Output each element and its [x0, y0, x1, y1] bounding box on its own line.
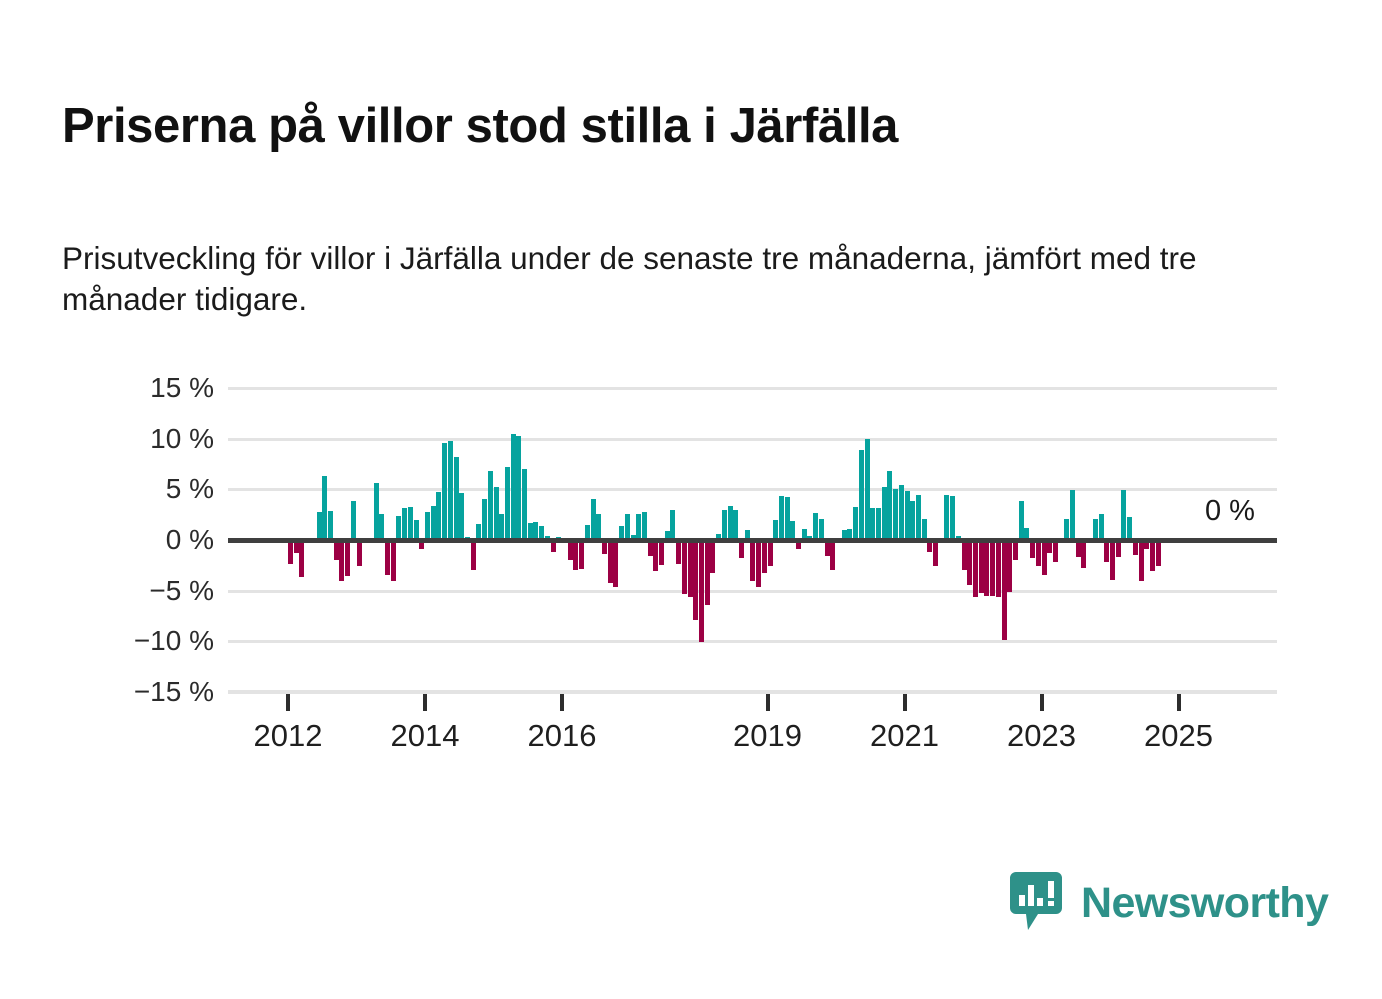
bar: [779, 496, 784, 540]
bar: [317, 512, 322, 540]
x-axis-tick-label: 2014: [391, 718, 460, 754]
bar: [773, 520, 778, 540]
bar: [511, 434, 516, 540]
bar: [910, 501, 915, 540]
bar: [876, 508, 881, 540]
x-axis-tick-label: 2012: [254, 718, 323, 754]
bar: [396, 516, 401, 540]
bar: [693, 540, 698, 620]
bar: [608, 540, 613, 583]
bar: [328, 511, 333, 540]
bar: [785, 497, 790, 540]
bar: [905, 491, 910, 540]
bar: [471, 540, 476, 570]
bar: [813, 513, 818, 540]
bar: [299, 540, 304, 577]
bar: [1070, 490, 1075, 540]
bar: [984, 540, 989, 596]
bar: [374, 483, 379, 540]
bar: [573, 540, 578, 570]
x-axis-tick-label: 2025: [1144, 718, 1213, 754]
bar: [1121, 490, 1126, 540]
bar: [579, 540, 584, 569]
bar: [351, 501, 356, 540]
x-axis-tick: [560, 694, 564, 711]
bar: [459, 493, 464, 540]
y-axis-tick-label: −5 %: [74, 575, 214, 607]
bar: [1156, 540, 1161, 566]
bar: [1127, 517, 1132, 540]
bar: [448, 441, 453, 540]
bar: [973, 540, 978, 597]
bar: [1064, 519, 1069, 540]
bar: [768, 540, 773, 566]
x-axis-tick: [423, 694, 427, 711]
bar: [482, 499, 487, 540]
bar: [996, 540, 1001, 597]
bar: [1110, 540, 1115, 580]
price-development-bar-chart: 15 %10 %5 %0 %−5 %−10 %−15 % 20122014201…: [0, 0, 1382, 999]
bar: [870, 508, 875, 540]
bar: [402, 508, 407, 540]
bar: [499, 514, 504, 540]
bar-chart-speech-bubble-icon: [1010, 872, 1068, 934]
bar: [1139, 540, 1144, 581]
x-axis-tick: [766, 694, 770, 711]
bar: [339, 540, 344, 581]
bar: [710, 540, 715, 573]
x-axis-tick-label: 2023: [1007, 718, 1076, 754]
bar: [625, 514, 630, 540]
bar: [1053, 540, 1058, 562]
bar: [893, 489, 898, 540]
bar: [682, 540, 687, 594]
bar: [750, 540, 755, 581]
bar: [882, 487, 887, 540]
bar: [431, 506, 436, 540]
bar: [830, 540, 835, 570]
zero-line: [228, 538, 1277, 543]
bar: [385, 540, 390, 575]
x-axis-tick: [1177, 694, 1181, 711]
zero-line-annotation: 0 %: [1205, 495, 1255, 528]
newsworthy-wordmark: Newsworthy: [1081, 882, 1328, 925]
bar: [494, 487, 499, 540]
bar: [933, 540, 938, 566]
bar: [659, 540, 664, 565]
bar: [591, 499, 596, 540]
bar: [1007, 540, 1012, 592]
bar: [944, 495, 949, 540]
bar: [1002, 540, 1007, 640]
x-axis-tick: [286, 694, 290, 711]
bar: [345, 540, 350, 576]
x-axis-tick-label: 2021: [870, 718, 939, 754]
bar: [488, 471, 493, 540]
y-axis-tick-label: 15 %: [74, 372, 214, 404]
bar: [522, 469, 527, 540]
bar: [899, 485, 904, 540]
bar: [979, 540, 984, 593]
bar: [596, 514, 601, 540]
x-axis-tick: [1040, 694, 1044, 711]
bar: [516, 436, 521, 540]
bar: [670, 510, 675, 540]
bar: [1150, 540, 1155, 571]
bar: [733, 510, 738, 540]
bar: [322, 476, 327, 540]
bar: [642, 512, 647, 540]
bar: [722, 510, 727, 540]
bar: [454, 457, 459, 540]
plot-area: [228, 388, 1277, 692]
bar: [950, 496, 955, 540]
bar: [865, 439, 870, 540]
bar: [962, 540, 967, 570]
bar: [568, 540, 573, 560]
y-axis-tick-label: 0 %: [74, 524, 214, 556]
bar: [967, 540, 972, 585]
x-axis-tick-label: 2019: [733, 718, 802, 754]
bar: [408, 507, 413, 540]
bar: [762, 540, 767, 573]
bar: [1099, 514, 1104, 540]
y-axis-tick-label: 10 %: [74, 423, 214, 455]
bar: [436, 492, 441, 540]
bar: [425, 512, 430, 540]
bar: [1081, 540, 1086, 568]
y-axis-tick-label: 5 %: [74, 473, 214, 505]
y-axis-tick-label: −10 %: [74, 625, 214, 657]
bar: [916, 495, 921, 540]
bar: [636, 514, 641, 540]
infographic-page: Priserna på villor stod stilla i Järfäll…: [0, 0, 1382, 999]
bar: [1042, 540, 1047, 575]
y-axis-tick-label: −15 %: [74, 676, 214, 708]
bar: [887, 471, 892, 540]
bar: [859, 450, 864, 540]
bar: [613, 540, 618, 587]
bar: [653, 540, 658, 571]
bar: [414, 520, 419, 540]
bar: [853, 507, 858, 540]
bar: [728, 506, 733, 540]
bar: [391, 540, 396, 581]
bar: [505, 467, 510, 540]
bar: [334, 540, 339, 560]
bar: [1013, 540, 1018, 560]
x-axis-tick: [903, 694, 907, 711]
bar: [699, 540, 704, 642]
bar: [819, 519, 824, 540]
bar: [1019, 501, 1024, 540]
bar: [688, 540, 693, 597]
bar: [1104, 540, 1109, 562]
bar: [676, 540, 681, 564]
bar: [357, 540, 362, 566]
bar: [1036, 540, 1041, 566]
bar: [379, 514, 384, 540]
newsworthy-logo: Newsworthy: [1010, 872, 1328, 934]
bar: [442, 443, 447, 540]
bar: [288, 540, 293, 564]
bar: [922, 519, 927, 540]
bar: [705, 540, 710, 605]
x-axis-tick-label: 2016: [528, 718, 597, 754]
bar: [990, 540, 995, 596]
bar: [1093, 519, 1098, 540]
bar: [756, 540, 761, 587]
